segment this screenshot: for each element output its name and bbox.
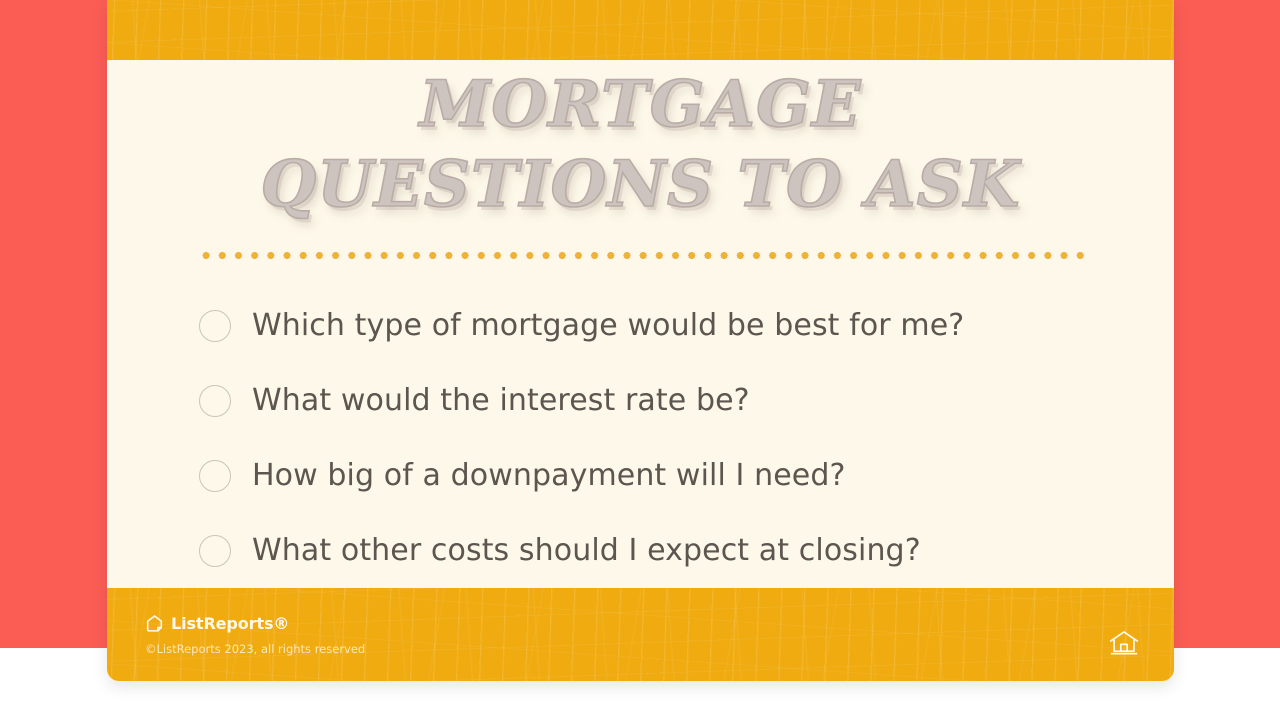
- list-item-label: What other costs should I expect at clos…: [252, 533, 921, 568]
- list-item[interactable]: What other costs should I expect at clos…: [199, 513, 1119, 588]
- card-body: MORTGAGE QUESTIONS TO ASK Which type of …: [107, 60, 1174, 588]
- brand-lockup: ListReports®: [145, 614, 289, 633]
- list-item[interactable]: Which type of mortgage would be best for…: [199, 288, 1119, 363]
- page-title: MORTGAGE QUESTIONS TO ASK: [107, 73, 1174, 217]
- empty-circle-icon[interactable]: [199, 310, 231, 342]
- listreports-house-tag-icon: [145, 614, 164, 633]
- empty-circle-icon[interactable]: [199, 535, 231, 567]
- band-texture-overlay: [107, 0, 1174, 60]
- footer-texture-overlay: [107, 588, 1174, 681]
- copyright-text: ©ListReports 2023, all rights reserved: [145, 642, 365, 656]
- empty-circle-icon[interactable]: [199, 385, 231, 417]
- list-item-label: Which type of mortgage would be best for…: [252, 308, 964, 343]
- title-line-2: QUESTIONS TO ASK: [107, 153, 1174, 217]
- band-texture-overlay-secondary: [107, 0, 1174, 60]
- list-item[interactable]: How big of a downpayment will I need?: [199, 438, 1119, 513]
- list-item-label: How big of a downpayment will I need?: [252, 458, 846, 493]
- brand-name: ListReports®: [171, 614, 289, 633]
- dotted-divider: [198, 252, 1084, 259]
- empty-circle-icon[interactable]: [199, 460, 231, 492]
- equal-housing-opportunity-icon: [1108, 628, 1140, 658]
- title-line-1: MORTGAGE: [107, 73, 1174, 137]
- footer-texture-overlay-secondary: [107, 588, 1174, 681]
- flyer-card: MORTGAGE QUESTIONS TO ASK Which type of …: [107, 0, 1174, 681]
- list-item[interactable]: What would the interest rate be?: [199, 363, 1119, 438]
- top-amber-band: [107, 0, 1174, 60]
- footer-band: ListReports® ©ListReports 2023, all righ…: [107, 588, 1174, 681]
- question-checklist: Which type of mortgage would be best for…: [199, 288, 1119, 588]
- list-item-label: What would the interest rate be?: [252, 383, 750, 418]
